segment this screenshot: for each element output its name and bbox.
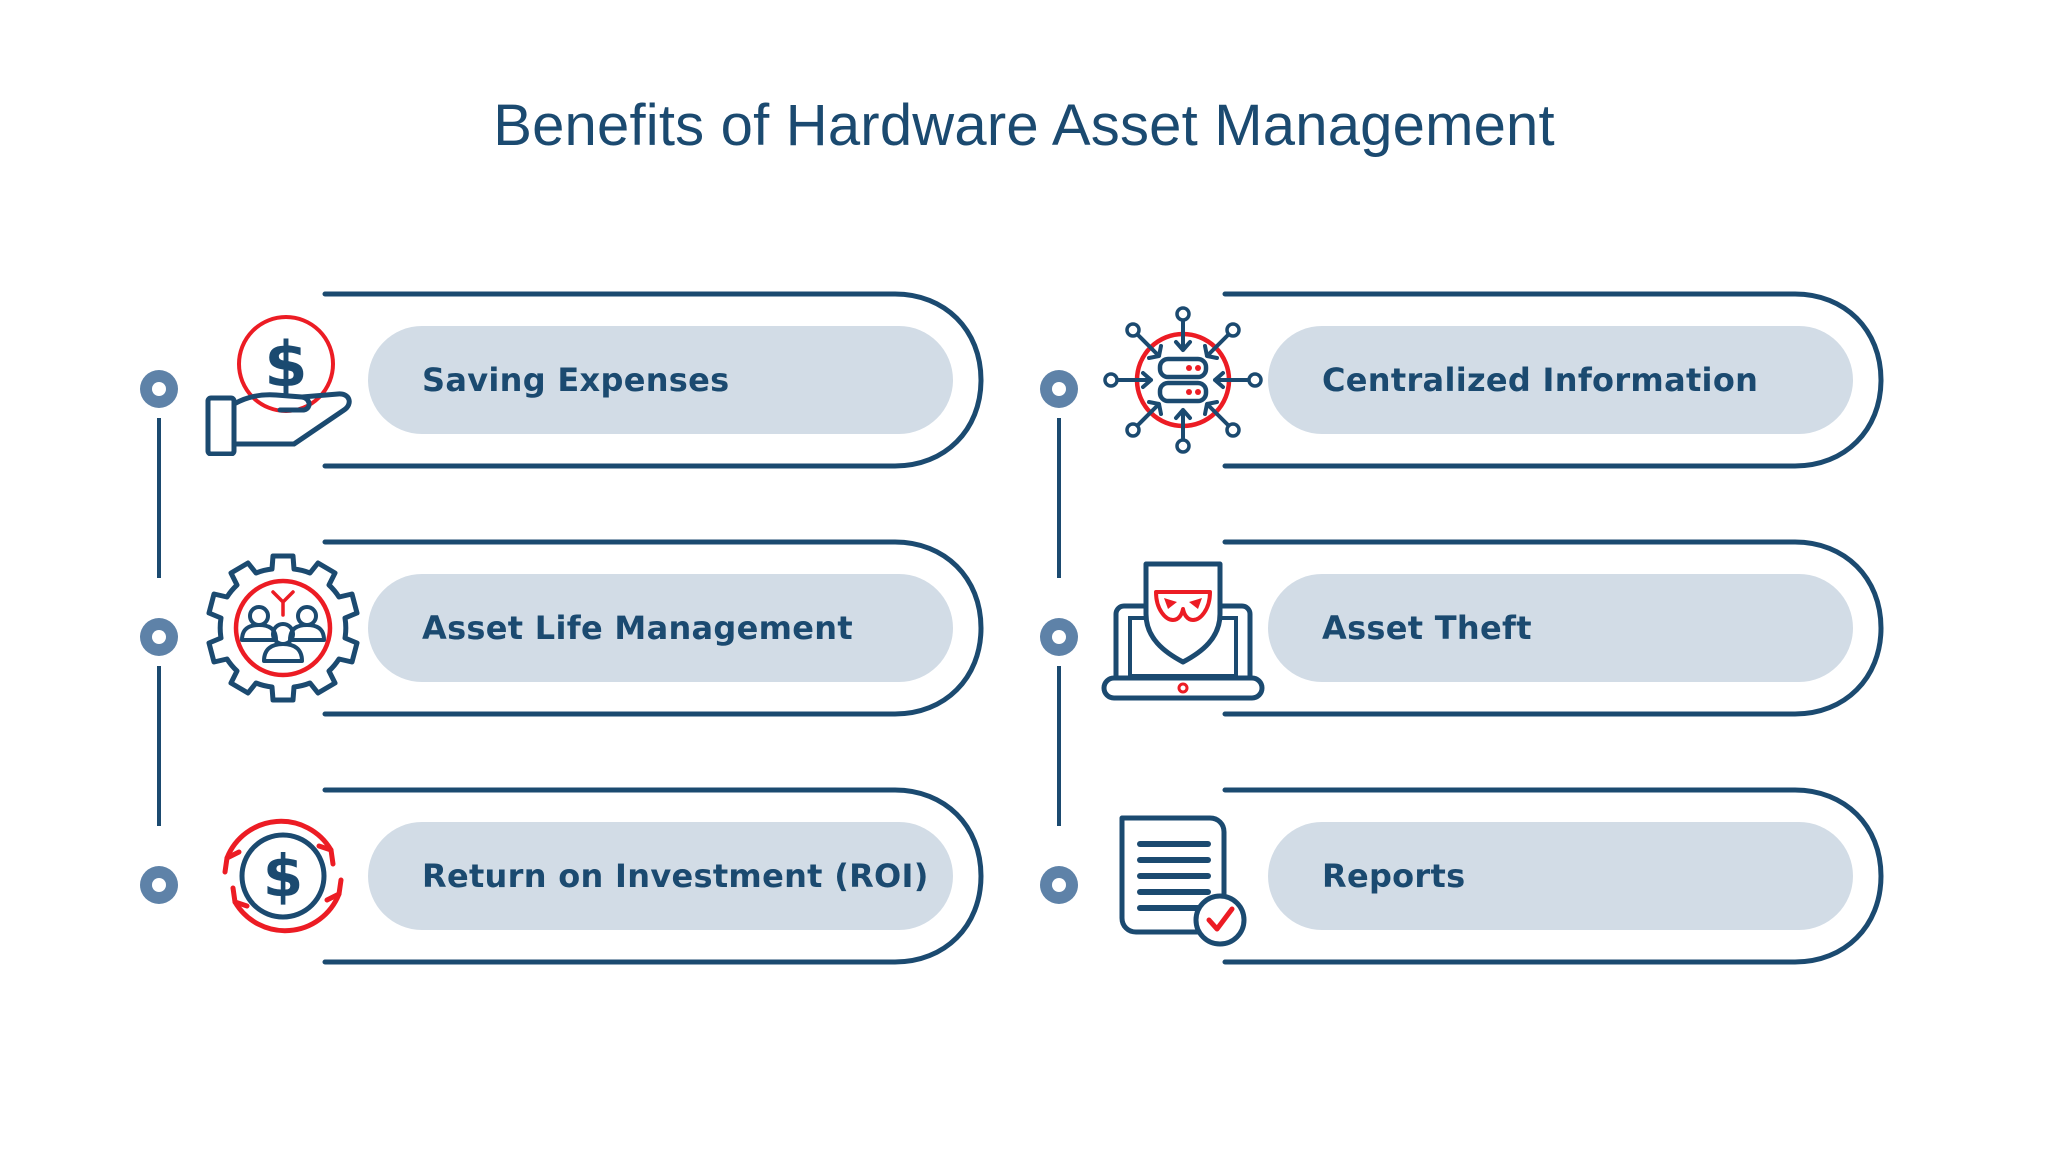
- benefit-pill[interactable]: Saving Expenses: [368, 326, 953, 434]
- dollar-cycle-arrows-icon: $: [198, 800, 368, 952]
- hand-with-dollar-coin-icon: $: [198, 304, 368, 456]
- benefit-item-asset-life-management[interactable]: Asset Life Management: [140, 538, 1040, 718]
- bullet-marker: [140, 866, 178, 904]
- benefit-label: Asset Life Management: [422, 609, 853, 647]
- svg-text:$: $: [263, 842, 303, 910]
- benefit-item-asset-theft[interactable]: Asset Theft: [1040, 538, 1940, 718]
- benefit-label: Asset Theft: [1322, 609, 1532, 647]
- benefit-pill[interactable]: Asset Theft: [1268, 574, 1853, 682]
- centralized-database-network-icon: [1098, 304, 1268, 456]
- benefit-pill[interactable]: Asset Life Management: [368, 574, 953, 682]
- benefit-label: Centralized Information: [1322, 361, 1758, 399]
- benefit-label: Saving Expenses: [422, 361, 729, 399]
- bullet-marker: [1040, 370, 1078, 408]
- bullet-marker: [1040, 866, 1078, 904]
- bullet-marker: [140, 618, 178, 656]
- svg-text:$: $: [264, 328, 307, 401]
- benefit-pill[interactable]: Centralized Information: [1268, 326, 1853, 434]
- page-title: Benefits of Hardware Asset Management: [0, 92, 2048, 159]
- benefit-label: Reports: [1322, 857, 1465, 895]
- benefits-column-right: Centralized Information: [1040, 290, 1940, 910]
- gear-with-people-icon: [198, 552, 368, 704]
- benefit-label: Return on Investment (ROI): [422, 857, 929, 895]
- benefit-item-saving-expenses[interactable]: $ Saving Expenses: [140, 290, 1040, 470]
- benefit-item-reports[interactable]: Reports: [1040, 786, 1940, 966]
- laptop-shield-mask-icon: [1098, 552, 1268, 704]
- document-check-icon: [1098, 800, 1268, 952]
- benefit-item-return-on-investment[interactable]: $ Return on Investment (ROI): [140, 786, 1040, 966]
- benefit-pill[interactable]: Reports: [1268, 822, 1853, 930]
- bullet-marker: [1040, 618, 1078, 656]
- bullet-marker: [140, 370, 178, 408]
- benefit-item-centralized-information[interactable]: Centralized Information: [1040, 290, 1940, 470]
- benefits-column-left: $ Saving Expenses: [140, 290, 1040, 910]
- benefit-pill[interactable]: Return on Investment (ROI): [368, 822, 953, 930]
